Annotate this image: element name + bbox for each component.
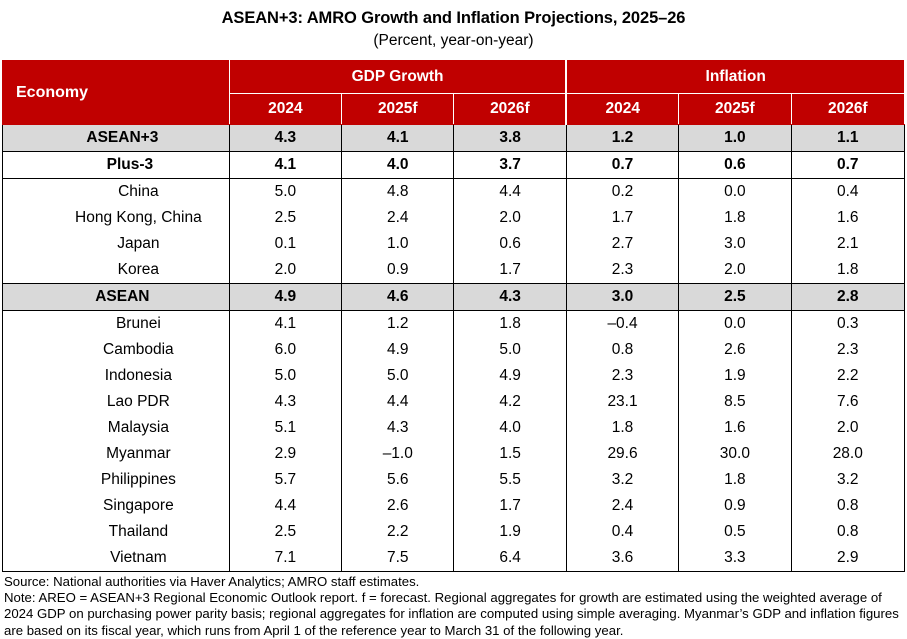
cell-value: 3.7 [454,152,566,179]
cell-value: 2.3 [566,257,678,284]
table-body: ASEAN+34.34.13.81.21.01.1Plus-34.14.03.7… [3,125,905,572]
cell-value: 2.5 [229,519,341,545]
row-label-cambodia: Cambodia [3,337,230,363]
cell-value: 1.7 [566,205,678,231]
cell-value: 0.1 [229,231,341,257]
column-group-inflation: Inflation [566,61,904,94]
cell-value: 4.4 [454,179,566,206]
table-row: Cambodia6.04.95.00.82.62.3 [3,337,905,363]
table-row: Philippines5.75.65.53.21.83.2 [3,467,905,493]
explanatory-note: Note: AREO = ASEAN+3 Regional Economic O… [4,590,903,639]
cell-value: 2.0 [679,257,791,284]
cell-value: 7.1 [229,545,341,572]
cell-value: 5.7 [229,467,341,493]
cell-value: 0.8 [791,519,904,545]
cell-value: 1.9 [679,363,791,389]
table-row: Lao PDR4.34.44.223.18.57.6 [3,389,905,415]
cell-value: 2.8 [791,284,904,311]
row-label-china: China [3,179,230,206]
table-row: ASEAN4.94.64.33.02.52.8 [3,284,905,311]
cell-value: 2.6 [679,337,791,363]
row-label-japan: Japan [3,231,230,257]
cell-value: 1.6 [791,205,904,231]
cell-value: 0.0 [679,179,791,206]
cell-value: 28.0 [791,441,904,467]
cell-value: 4.6 [342,284,454,311]
cell-value: 2.5 [679,284,791,311]
table-row: Brunei4.11.21.8–0.40.00.3 [3,311,905,338]
cell-value: 4.9 [342,337,454,363]
projections-table: Economy GDP Growth Inflation 2024 2025f … [2,60,905,572]
cell-value: 2.0 [229,257,341,284]
cell-value: 29.6 [566,441,678,467]
table-row: Korea2.00.91.72.32.01.8 [3,257,905,284]
cell-value: 0.9 [342,257,454,284]
cell-value: 2.2 [342,519,454,545]
column-header-gdp-2024: 2024 [229,94,341,125]
cell-value: 7.5 [342,545,454,572]
cell-value: 4.3 [229,125,341,152]
cell-value: 2.7 [566,231,678,257]
cell-value: 1.8 [679,467,791,493]
cell-value: 3.0 [679,231,791,257]
cell-value: 0.4 [566,519,678,545]
cell-value: 2.3 [791,337,904,363]
table-row: Hong Kong, China2.52.42.01.71.81.6 [3,205,905,231]
cell-value: 4.9 [229,284,341,311]
cell-value: 0.9 [679,493,791,519]
cell-value: 1.2 [342,311,454,338]
table-row: Plus-34.14.03.70.70.60.7 [3,152,905,179]
cell-value: 1.1 [791,125,904,152]
cell-value: 2.6 [342,493,454,519]
cell-value: 2.9 [229,441,341,467]
cell-value: 3.2 [791,467,904,493]
cell-value: 1.6 [679,415,791,441]
cell-value: 2.3 [566,363,678,389]
cell-value: 0.7 [566,152,678,179]
cell-value: 2.0 [454,205,566,231]
cell-value: 0.6 [679,152,791,179]
table-row: Myanmar2.9–1.01.529.630.028.0 [3,441,905,467]
cell-value: 5.5 [454,467,566,493]
table-head: Economy GDP Growth Inflation 2024 2025f … [3,61,905,125]
cell-value: 4.0 [454,415,566,441]
page-title: ASEAN+3: AMRO Growth and Inflation Proje… [0,8,907,28]
table-row: Japan0.11.00.62.73.02.1 [3,231,905,257]
page-subtitle: (Percent, year-on-year) [0,31,907,51]
cell-value: 4.8 [342,179,454,206]
cell-value: 1.5 [454,441,566,467]
table-row: Indonesia5.05.04.92.31.92.2 [3,363,905,389]
cell-value: 3.3 [679,545,791,572]
cell-value: 1.8 [454,311,566,338]
cell-value: 4.3 [454,284,566,311]
row-label-hong-kong-china: Hong Kong, China [3,205,230,231]
table-row: Singapore4.42.61.72.40.90.8 [3,493,905,519]
table-row: China5.04.84.40.20.00.4 [3,179,905,206]
cell-value: 1.0 [342,231,454,257]
cell-value: 7.6 [791,389,904,415]
cell-value: 23.1 [566,389,678,415]
cell-value: 4.2 [454,389,566,415]
cell-value: 3.6 [566,545,678,572]
row-label-malaysia: Malaysia [3,415,230,441]
cell-value: 2.9 [791,545,904,572]
table-row: Vietnam7.17.56.43.63.32.9 [3,545,905,572]
table-row: Thailand2.52.21.90.40.50.8 [3,519,905,545]
row-label-asean: ASEAN [3,284,230,311]
title-block: ASEAN+3: AMRO Growth and Inflation Proje… [0,0,907,51]
row-label-brunei: Brunei [3,311,230,338]
row-label-singapore: Singapore [3,493,230,519]
column-header-economy: Economy [3,61,230,125]
column-header-infl-2026f: 2026f [791,94,904,125]
cell-value: 1.9 [454,519,566,545]
cell-value: 2.4 [342,205,454,231]
cell-value: 6.0 [229,337,341,363]
cell-value: 2.2 [791,363,904,389]
cell-value: 2.0 [791,415,904,441]
cell-value: 1.8 [566,415,678,441]
cell-value: 6.4 [454,545,566,572]
cell-value: 1.8 [679,205,791,231]
row-label-asean-3: ASEAN+3 [3,125,230,152]
table-row: ASEAN+34.34.13.81.21.01.1 [3,125,905,152]
column-header-infl-2024: 2024 [566,94,678,125]
table-container: Economy GDP Growth Inflation 2024 2025f … [0,60,907,572]
cell-value: 3.0 [566,284,678,311]
cell-value: 0.5 [679,519,791,545]
cell-value: –1.0 [342,441,454,467]
cell-value: 5.6 [342,467,454,493]
cell-value: 4.1 [229,311,341,338]
table-row: Malaysia5.14.34.01.81.62.0 [3,415,905,441]
row-label-indonesia: Indonesia [3,363,230,389]
cell-value: 1.0 [679,125,791,152]
cell-value: 4.9 [454,363,566,389]
column-header-gdp-2026f: 2026f [454,94,566,125]
cell-value: 1.7 [454,493,566,519]
cell-value: 5.0 [454,337,566,363]
column-header-gdp-2025f: 2025f [342,94,454,125]
cell-value: –0.4 [566,311,678,338]
cell-value: 0.8 [566,337,678,363]
row-label-lao-pdr: Lao PDR [3,389,230,415]
row-label-korea: Korea [3,257,230,284]
cell-value: 5.0 [342,363,454,389]
cell-value: 2.1 [791,231,904,257]
cell-value: 4.1 [342,125,454,152]
cell-value: 0.7 [791,152,904,179]
row-label-plus-3: Plus-3 [3,152,230,179]
header-group-row: Economy GDP Growth Inflation [3,61,905,94]
cell-value: 8.5 [679,389,791,415]
cell-value: 5.0 [229,179,341,206]
cell-value: 30.0 [679,441,791,467]
row-label-vietnam: Vietnam [3,545,230,572]
cell-value: 4.3 [342,415,454,441]
cell-value: 0.4 [791,179,904,206]
column-group-gdp-growth: GDP Growth [229,61,566,94]
cell-value: 0.6 [454,231,566,257]
cell-value: 0.0 [679,311,791,338]
row-label-thailand: Thailand [3,519,230,545]
cell-value: 4.4 [229,493,341,519]
table-page: ASEAN+3: AMRO Growth and Inflation Proje… [0,0,907,633]
row-label-myanmar: Myanmar [3,441,230,467]
cell-value: 1.7 [454,257,566,284]
cell-value: 2.4 [566,493,678,519]
footnotes: Source: National authorities via Haver A… [0,572,907,639]
row-label-philippines: Philippines [3,467,230,493]
cell-value: 5.1 [229,415,341,441]
cell-value: 2.5 [229,205,341,231]
cell-value: 0.2 [566,179,678,206]
cell-value: 1.8 [791,257,904,284]
column-header-infl-2025f: 2025f [679,94,791,125]
cell-value: 3.8 [454,125,566,152]
source-note: Source: National authorities via Haver A… [4,574,903,590]
cell-value: 0.8 [791,493,904,519]
cell-value: 4.3 [229,389,341,415]
cell-value: 4.0 [342,152,454,179]
cell-value: 4.1 [229,152,341,179]
cell-value: 1.2 [566,125,678,152]
cell-value: 4.4 [342,389,454,415]
cell-value: 5.0 [229,363,341,389]
cell-value: 3.2 [566,467,678,493]
cell-value: 0.3 [791,311,904,338]
